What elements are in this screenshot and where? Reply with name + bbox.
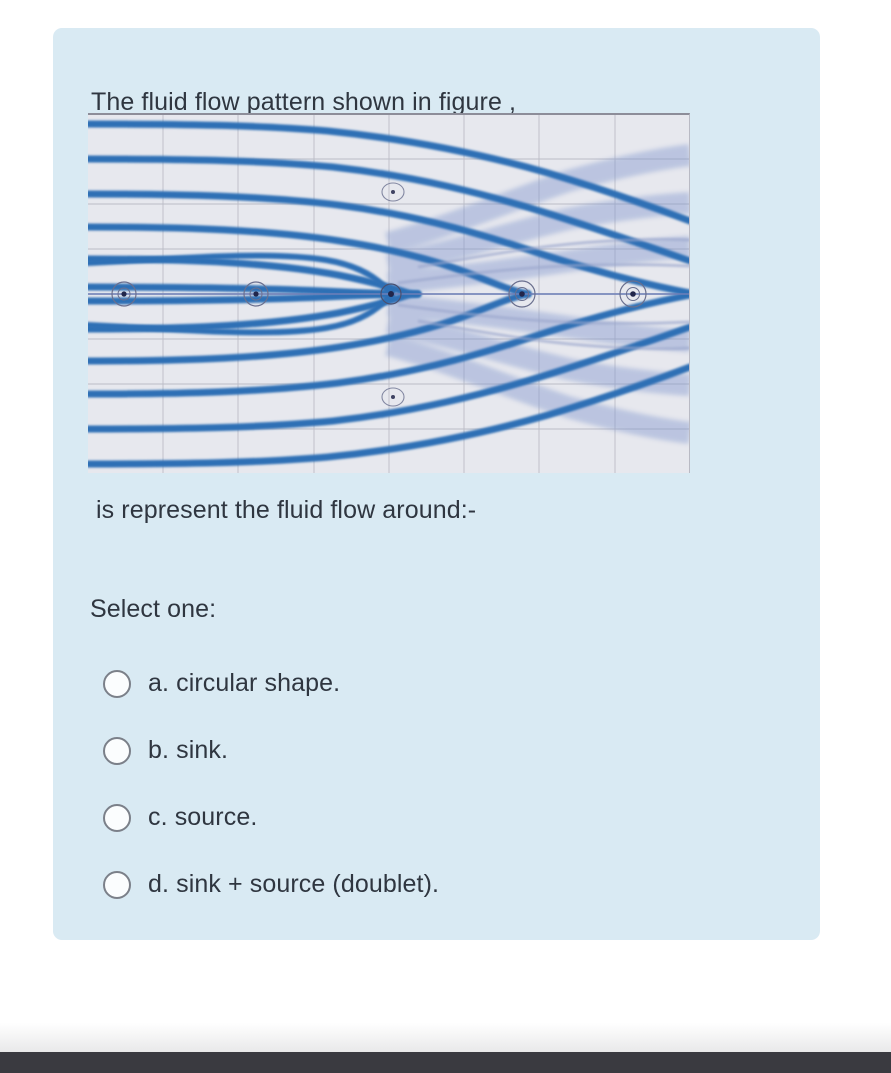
bottom-system-bar [0, 1052, 891, 1073]
page-bottom-fade [0, 975, 891, 1052]
radio-button-c[interactable] [103, 804, 131, 832]
answer-options-list: a. circular shape. b. sink. c. source. d… [103, 650, 803, 918]
option-label-c: c. source. [148, 803, 257, 832]
option-row-a[interactable]: a. circular shape. [103, 650, 803, 717]
option-row-b[interactable]: b. sink. [103, 717, 803, 784]
radio-button-d[interactable] [103, 871, 131, 899]
option-label-b: b. sink. [148, 736, 228, 765]
question-tail-text: is represent the fluid flow around:- [96, 494, 786, 526]
option-label-a: a. circular shape. [148, 669, 340, 698]
select-one-label: Select one: [90, 593, 216, 625]
option-label-d: d. sink + source (doublet). [148, 870, 439, 899]
question-card: The fluid flow pattern shown in figure , [53, 28, 820, 940]
streamline-plot-svg [88, 115, 690, 473]
radio-button-b[interactable] [103, 737, 131, 765]
option-row-c[interactable]: c. source. [103, 784, 803, 851]
radio-button-a[interactable] [103, 670, 131, 698]
option-row-d[interactable]: d. sink + source (doublet). [103, 851, 803, 918]
fluid-flow-figure [88, 113, 690, 473]
